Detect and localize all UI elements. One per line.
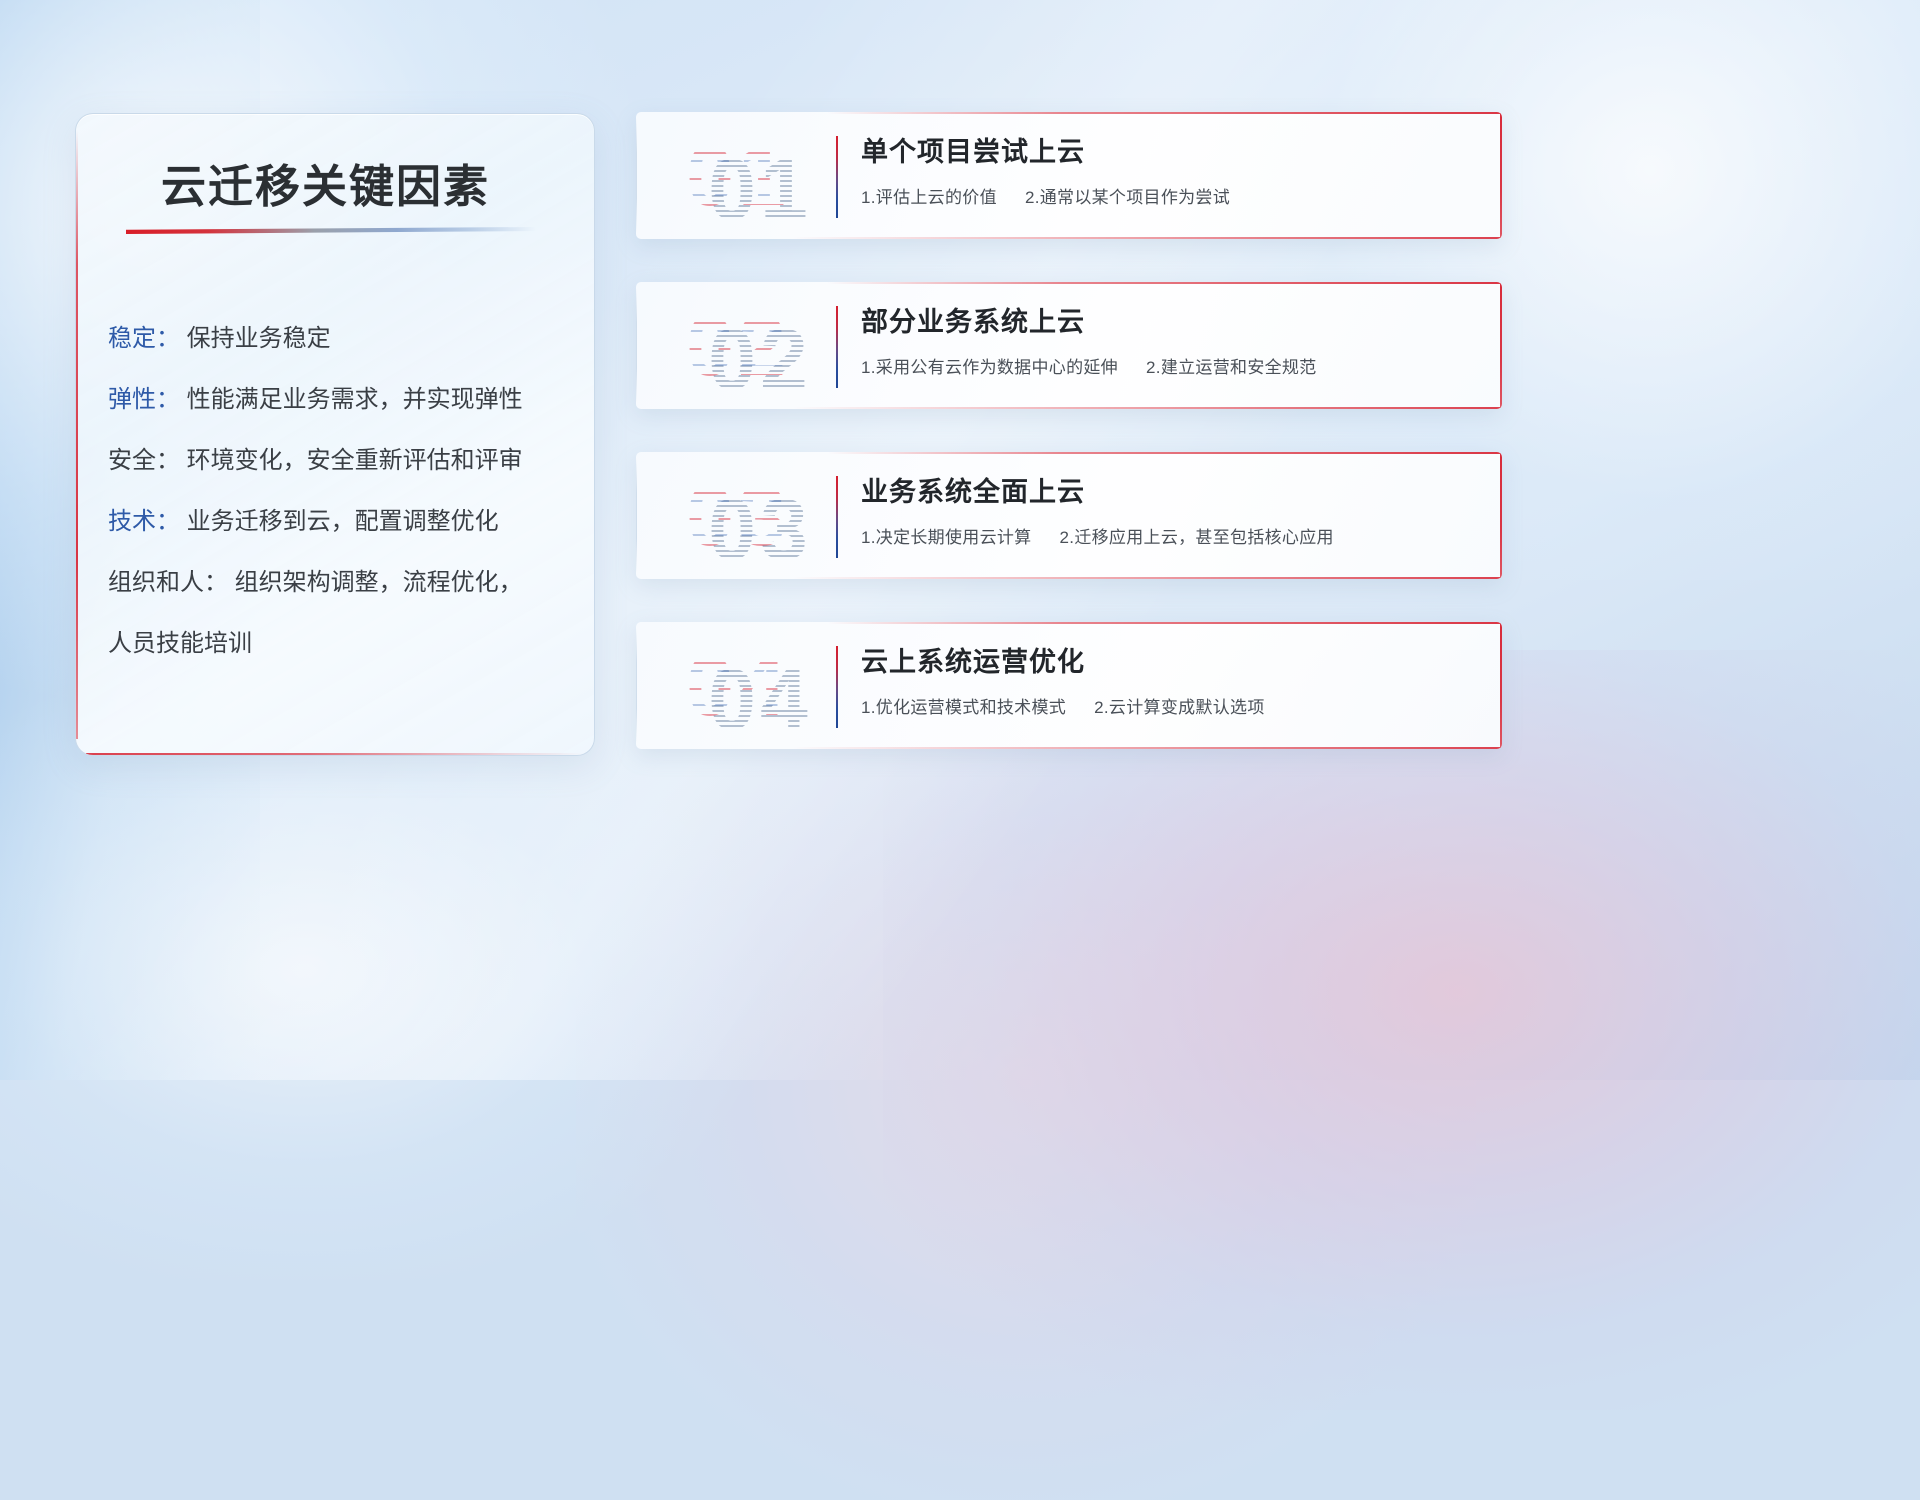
stage-card[interactable]: 01 01 01 单个项目尝试上云 1.评估上云的价值 2.通常以某个项目作为尝… (636, 112, 1502, 239)
factor-key: 稳定： (108, 325, 180, 352)
card-title: 业务系统全面上云 (861, 470, 1476, 509)
card-description: 1.优化运营模式和技术模式 2.云计算变成默认选项 (861, 693, 1476, 718)
card-description-item: 2.建立运营和安全规范 (1146, 358, 1316, 377)
card-description-item: 2.迁移应用上云，甚至包括核心应用 (1060, 528, 1334, 547)
factor-value: 业务迁移到云，配置调整优化 (187, 508, 499, 535)
card-description-item: 1.采用公有云作为数据中心的延伸 (861, 358, 1118, 377)
factor-value: 环境变化，安全重新评估和评审 (187, 447, 523, 474)
card-body: 单个项目尝试上云 1.评估上云的价值 2.通常以某个项目作为尝试 (861, 130, 1476, 208)
card-title: 云上系统运营优化 (861, 640, 1476, 679)
card-body: 业务系统全面上云 1.决定长期使用云计算 2.迁移应用上云，甚至包括核心应用 (861, 470, 1476, 548)
card-top-accent-edge (827, 282, 1502, 284)
card-body: 部分业务系统上云 1.采用公有云作为数据中心的延伸 2.建立运营和安全规范 (861, 300, 1476, 378)
stage-number-graphic: 04 04 04 (658, 636, 818, 736)
stage-card[interactable]: 04 04 04 云上系统运营优化 1.优化运营模式和技术模式 2.云计算变成默… (636, 622, 1502, 749)
factor-list: 稳定： 保持业务稳定 弹性： 性能满足业务需求，并实现弹性 安全： 环境变化，安… (108, 308, 576, 674)
card-bottom-accent-edge (792, 407, 1502, 409)
stage-number-blue-lines: 02 (658, 296, 818, 396)
stage-card-list: 01 01 01 单个项目尝试上云 1.评估上云的价值 2.通常以某个项目作为尝… (636, 112, 1502, 792)
card-left-edge (636, 288, 637, 403)
card-description: 1.决定长期使用云计算 2.迁移应用上云，甚至包括核心应用 (861, 523, 1476, 548)
card-top-accent-edge (827, 622, 1502, 624)
factor-key: 组织和人： (108, 569, 228, 596)
card-left-edge (636, 118, 637, 233)
factor-value: 保持业务稳定 (187, 325, 331, 352)
card-description: 1.采用公有云作为数据中心的延伸 2.建立运营和安全规范 (861, 353, 1476, 378)
stage-number-blue-lines: 03 (658, 466, 818, 566)
factor-key: 安全： (108, 447, 180, 474)
card-bottom-accent-edge (792, 237, 1502, 239)
card-divider-bar (836, 306, 838, 388)
card-right-accent-edge (1500, 622, 1502, 749)
card-top-accent-edge (827, 112, 1502, 114)
card-description-item: 2.通常以某个项目作为尝试 (1025, 188, 1230, 207)
stage-card[interactable]: 02 02 02 部分业务系统上云 1.采用公有云作为数据中心的延伸 2.建立运… (636, 282, 1502, 409)
card-description-item: 2.云计算变成默认选项 (1094, 698, 1264, 717)
card-right-accent-edge (1500, 282, 1502, 409)
card-top-accent-edge (827, 452, 1502, 454)
card-title: 单个项目尝试上云 (861, 130, 1476, 169)
factor-value: 性能满足业务需求，并实现弹性 (187, 386, 523, 413)
slide-stage: 云迁移关键因素 稳定： 保持业务稳定 弹性： 性能满足业务需求，并实现弹性 安全… (0, 0, 1920, 1080)
title-underline-rule (126, 227, 536, 234)
card-description-item: 1.优化运营模式和技术模式 (861, 698, 1066, 717)
card-description-item: 1.决定长期使用云计算 (861, 528, 1031, 547)
stage-number-graphic: 03 03 03 (658, 466, 818, 566)
factor-row: 稳定： 保持业务稳定 (108, 308, 576, 369)
factor-value: 人员技能培训 (108, 630, 252, 657)
factor-row: 弹性： 性能满足业务需求，并实现弹性 (108, 369, 576, 430)
card-description-item: 1.评估上云的价值 (861, 188, 997, 207)
factor-row-continuation: 人员技能培训 (108, 613, 576, 674)
card-divider-bar (836, 646, 838, 728)
panel-left-accent-edge (76, 130, 78, 739)
factor-row: 技术： 业务迁移到云，配置调整优化 (108, 491, 576, 552)
stage-number-blue-lines: 04 (658, 636, 818, 736)
card-divider-bar (836, 476, 838, 558)
panel-bottom-accent-edge (86, 753, 584, 755)
stage-number-graphic: 01 01 01 (658, 126, 818, 226)
card-right-accent-edge (1500, 452, 1502, 579)
card-divider-bar (836, 136, 838, 218)
card-right-accent-edge (1500, 112, 1502, 239)
factor-value: 组织架构调整，流程优化， (235, 569, 523, 596)
page-title: 云迁移关键因素 (161, 150, 490, 215)
factor-row: 组织和人： 组织架构调整，流程优化， (108, 552, 576, 613)
card-bottom-accent-edge (792, 747, 1502, 749)
card-left-edge (636, 628, 637, 743)
key-factors-panel: 云迁移关键因素 稳定： 保持业务稳定 弹性： 性能满足业务需求，并实现弹性 安全… (75, 113, 595, 756)
stage-number-graphic: 02 02 02 (658, 296, 818, 396)
card-title: 部分业务系统上云 (861, 300, 1476, 339)
card-left-edge (636, 458, 637, 573)
card-description: 1.评估上云的价值 2.通常以某个项目作为尝试 (861, 183, 1476, 208)
stage-number-blue-lines: 01 (658, 126, 818, 226)
factor-key: 技术： (108, 508, 180, 535)
stage-card[interactable]: 03 03 03 业务系统全面上云 1.决定长期使用云计算 2.迁移应用上云，甚… (636, 452, 1502, 579)
factor-key: 弹性： (108, 386, 180, 413)
factor-row: 安全： 环境变化，安全重新评估和评审 (108, 430, 576, 491)
card-bottom-accent-edge (792, 577, 1502, 579)
card-body: 云上系统运营优化 1.优化运营模式和技术模式 2.云计算变成默认选项 (861, 640, 1476, 718)
